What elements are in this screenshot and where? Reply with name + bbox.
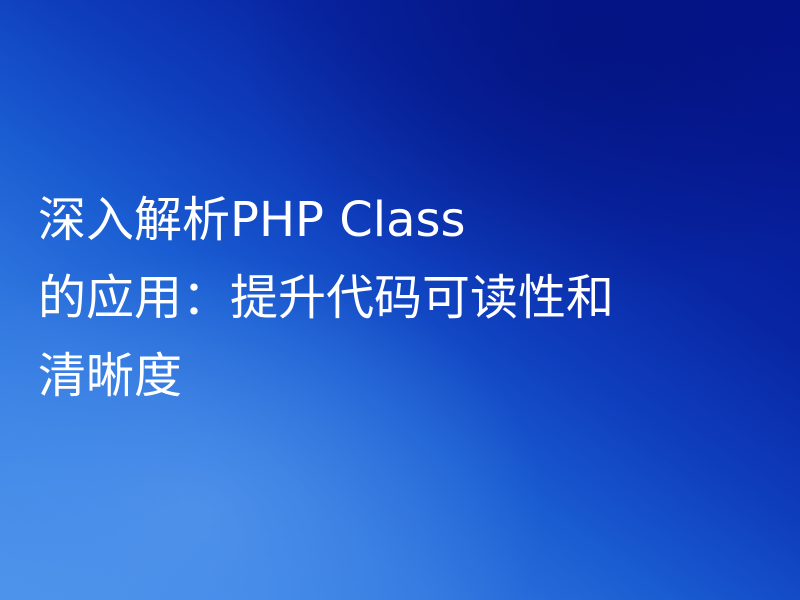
title-block: 深入解析PHP Class 的应用：提升代码可读性和 清晰度 (38, 181, 774, 415)
cover-banner: 深入解析PHP Class 的应用：提升代码可读性和 清晰度 (0, 0, 800, 600)
page-title: 深入解析PHP Class 的应用：提升代码可读性和 清晰度 (38, 181, 774, 415)
